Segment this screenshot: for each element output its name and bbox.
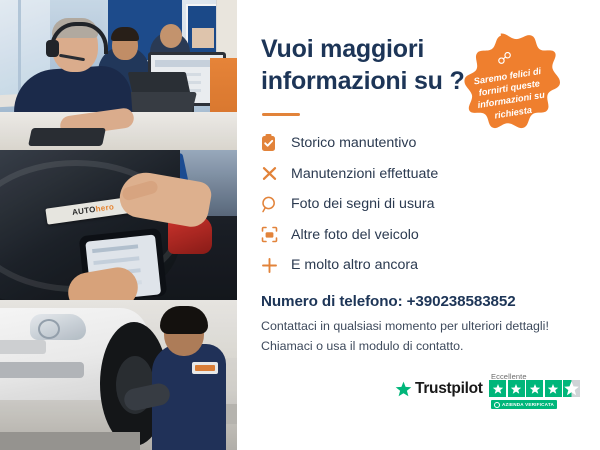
trustpilot-widget[interactable]: Trustpilot Eccellente AZIENDA VERIFICATA — [395, 374, 591, 416]
title-divider — [262, 113, 300, 116]
plus-icon — [261, 254, 291, 276]
trustpilot-name: Trustpilot — [415, 380, 483, 398]
contact-line-2: Chiamaci o usa il modulo di contatto. — [261, 339, 464, 353]
trustpilot-star-icon — [395, 381, 412, 398]
list-item: Altre foto del veicolo — [261, 220, 591, 251]
star-filled — [526, 380, 543, 397]
content-panel: Vuoi maggiori informazioni su ? ☍ Saremo… — [237, 0, 600, 450]
photo-overlay — [0, 0, 237, 150]
verified-label: AZIENDA VERIFICATA — [502, 402, 554, 407]
list-item: Storico manutentivo — [261, 128, 591, 159]
contact-line-1: Contattaci in qualsiasi momento per ulte… — [261, 319, 549, 333]
star-filled — [545, 380, 562, 397]
photo-overlay — [0, 300, 237, 450]
scan-frame-icon — [261, 224, 291, 246]
check-circle-icon — [494, 402, 500, 408]
list-item-label: Foto dei segni di usura — [291, 196, 435, 212]
list-item-label: Storico manutentivo — [291, 135, 416, 151]
feature-list: Storico manutentivo Manutenzioni effettu… — [261, 128, 591, 281]
list-item-label: E molto altro ancora — [291, 257, 418, 273]
magnifier-icon — [261, 193, 291, 215]
promo-card: AUTOhero Vuoi maggiori — [0, 0, 600, 450]
phone-heading[interactable]: Numero di telefono: +390238583852 — [261, 293, 516, 310]
list-item: E molto altro ancora — [261, 250, 591, 281]
list-item-label: Altre foto del veicolo — [291, 227, 419, 243]
list-item-label: Manutenzioni effettuate — [291, 166, 438, 182]
call-center-photo — [0, 0, 237, 150]
list-item: Manutenzioni effettuate — [261, 159, 591, 190]
workshop-lift-photo — [0, 300, 237, 450]
trustpilot-stars — [489, 380, 580, 397]
trustpilot-logo: Trustpilot — [395, 380, 483, 398]
vehicle-inspection-photo: AUTOhero — [0, 150, 237, 300]
photo-column: AUTOhero — [0, 0, 237, 450]
star-half — [563, 380, 580, 397]
star-filled — [508, 380, 525, 397]
clipboard-check-icon — [261, 132, 291, 154]
list-item: Foto dei segni di usura — [261, 189, 591, 220]
photo-overlay — [0, 150, 237, 300]
wrench-cross-icon — [261, 163, 291, 185]
verified-badge: AZIENDA VERIFICATA — [491, 400, 557, 409]
star-filled — [489, 380, 506, 397]
